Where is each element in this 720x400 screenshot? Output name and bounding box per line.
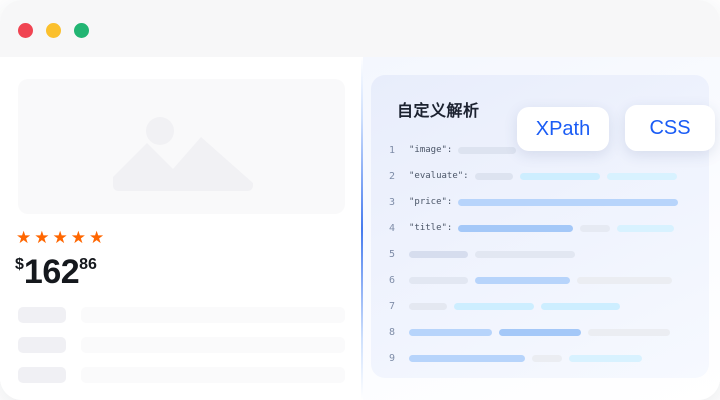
code-value-bar bbox=[617, 225, 674, 232]
close-window-icon[interactable] bbox=[18, 23, 33, 38]
panel-title: 自定义解析 bbox=[397, 97, 480, 121]
code-value-bar bbox=[409, 355, 525, 362]
skeleton-row bbox=[18, 307, 345, 323]
star-icon: ★ bbox=[34, 229, 49, 246]
code-value-bar bbox=[475, 277, 570, 284]
code-value-bars bbox=[475, 173, 695, 180]
star-icon: ★ bbox=[53, 229, 68, 246]
code-line-number: 9 bbox=[389, 353, 409, 364]
code-line-number: 4 bbox=[389, 223, 409, 234]
minimize-window-icon[interactable] bbox=[46, 23, 61, 38]
code-value-bar bbox=[458, 147, 516, 154]
code-value-bars bbox=[409, 329, 695, 336]
star-icon: ★ bbox=[89, 229, 104, 246]
code-key-token: "image": bbox=[409, 145, 452, 155]
code-value-bar bbox=[475, 251, 575, 258]
code-value-bar bbox=[409, 303, 447, 310]
skeleton-label bbox=[18, 337, 66, 353]
maximize-window-icon[interactable] bbox=[74, 23, 89, 38]
code-key-token: "evaluate": bbox=[409, 171, 469, 181]
skeleton-label bbox=[18, 367, 66, 383]
skeleton-value bbox=[81, 307, 345, 323]
code-line-number: 2 bbox=[389, 171, 409, 182]
rating-stars: ★ ★ ★ ★ ★ bbox=[16, 229, 104, 246]
image-placeholder-mountain-icon bbox=[113, 133, 253, 191]
product-price: $16286 bbox=[15, 255, 97, 289]
css-selector-button[interactable]: CSS bbox=[625, 105, 715, 151]
code-value-bar bbox=[588, 329, 670, 336]
code-line[interactable]: 2"evaluate": bbox=[389, 163, 695, 189]
code-value-bars bbox=[409, 303, 695, 310]
code-value-bar bbox=[569, 355, 642, 362]
skeleton-label bbox=[18, 307, 66, 323]
code-value-bars bbox=[458, 199, 695, 206]
code-line-number: 8 bbox=[389, 327, 409, 338]
star-icon: ★ bbox=[16, 229, 31, 246]
code-value-bar bbox=[475, 173, 513, 180]
code-value-bars bbox=[409, 355, 695, 362]
code-value-bar bbox=[580, 225, 610, 232]
code-value-bars bbox=[409, 251, 695, 258]
product-preview-pane: ★ ★ ★ ★ ★ $16286 bbox=[0, 57, 362, 400]
skeleton-row bbox=[18, 337, 345, 353]
code-key-token: "price": bbox=[409, 197, 452, 207]
code-line[interactable]: 8 bbox=[389, 319, 695, 345]
code-value-bar bbox=[607, 173, 677, 180]
code-line[interactable]: 7 bbox=[389, 293, 695, 319]
code-value-bar bbox=[520, 173, 600, 180]
code-value-bar bbox=[409, 251, 468, 258]
code-line-number: 5 bbox=[389, 249, 409, 260]
code-line[interactable]: 3"price": bbox=[389, 189, 695, 215]
code-line[interactable]: 6 bbox=[389, 267, 695, 293]
window-body: ★ ★ ★ ★ ★ $16286 bbox=[0, 57, 720, 400]
code-value-bar bbox=[577, 277, 672, 284]
star-icon: ★ bbox=[71, 229, 86, 246]
code-line-number: 1 bbox=[389, 145, 409, 156]
browser-window: ★ ★ ★ ★ ★ $16286 bbox=[0, 0, 720, 400]
price-currency: $ bbox=[15, 256, 24, 273]
xpath-selector-button[interactable]: XPath bbox=[517, 107, 609, 151]
window-titlebar bbox=[0, 0, 720, 57]
code-value-bar bbox=[458, 199, 678, 206]
skeleton-value bbox=[81, 337, 345, 353]
code-value-bar bbox=[541, 303, 620, 310]
code-line-list: 1"image":2"evaluate":3"price":4"title":5… bbox=[389, 137, 695, 371]
product-detail-skeleton bbox=[18, 307, 345, 397]
code-line-number: 7 bbox=[389, 301, 409, 312]
skeleton-value bbox=[81, 367, 345, 383]
code-key-token: "title": bbox=[409, 223, 452, 233]
code-value-bar bbox=[532, 355, 562, 362]
code-value-bar bbox=[454, 303, 534, 310]
product-image-placeholder bbox=[18, 79, 345, 214]
code-line[interactable]: 9 bbox=[389, 345, 695, 371]
code-value-bar bbox=[409, 277, 468, 284]
code-value-bar bbox=[458, 225, 573, 232]
code-value-bars bbox=[409, 277, 695, 284]
traffic-light-group bbox=[18, 23, 89, 38]
price-whole: 162 bbox=[24, 253, 79, 291]
skeleton-row bbox=[18, 367, 345, 383]
code-value-bars bbox=[458, 225, 695, 232]
code-line-number: 3 bbox=[389, 197, 409, 208]
code-value-bar bbox=[409, 329, 492, 336]
code-line[interactable]: 4"title": bbox=[389, 215, 695, 241]
code-value-bar bbox=[499, 329, 581, 336]
code-line[interactable]: 5 bbox=[389, 241, 695, 267]
price-cents: 86 bbox=[79, 256, 97, 273]
code-line-number: 6 bbox=[389, 275, 409, 286]
